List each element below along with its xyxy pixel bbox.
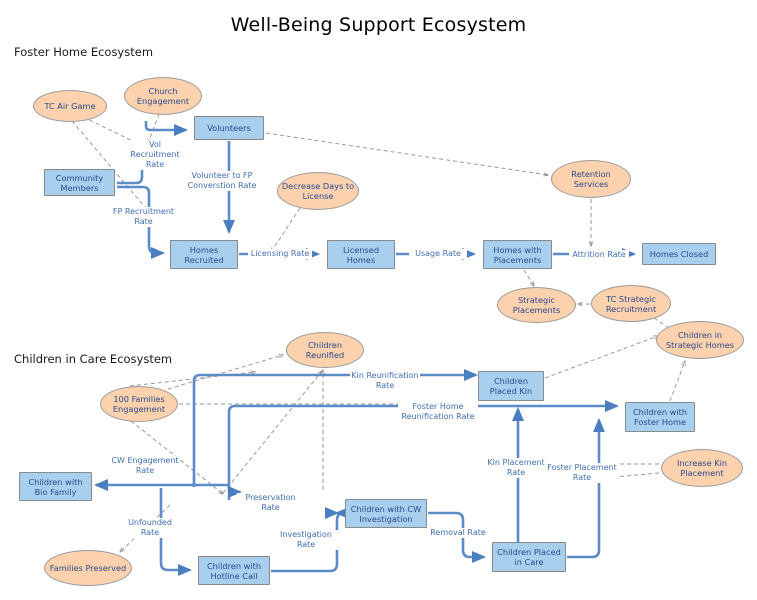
node-label: Children Reunified	[289, 340, 361, 360]
node-label: Retention Services	[554, 169, 628, 189]
flow-label-cw-engagement-rate: CW Engagement Rate	[110, 456, 180, 476]
node-label: Homes Recruited	[173, 245, 235, 265]
link-volunteers-to-retention	[266, 133, 548, 175]
flow-label-investigation-rate: Investigation Rate	[272, 530, 340, 550]
stock-node-children-with-foster-home[interactable]: Children with Foster Home	[625, 402, 695, 432]
link-hotline-to-reunified	[223, 371, 322, 493]
node-label: TC Strategic Recruitment	[594, 294, 668, 314]
flow-label-unfounded-rate: Unfounded Rate	[120, 518, 180, 538]
node-label: 100 Families Engagement	[103, 394, 175, 414]
flow-label-preservation-rate: Preservation Rate	[237, 493, 304, 513]
flow-label-usage-rate: Usage Rate	[409, 249, 467, 259]
node-label: Children Placed Kin	[481, 376, 541, 396]
node-label: Church Engagement	[127, 86, 199, 106]
flow-label-kin-reunification-rate: Kin Reunification Rate	[350, 371, 420, 391]
flow-label-volunteer-to-fp-conversion-rate: Volunteer to FP Converstion Rate	[185, 171, 259, 191]
flow-label-attrition-rate: Attrition Rate	[569, 250, 629, 260]
flow-label-removal-rate: Removal Rate	[427, 528, 489, 538]
flow-label-kin-placement-rate: Kin Placement Rate	[482, 458, 550, 478]
node-label: Decrease Days to License	[280, 181, 356, 201]
link-kin-to-children-strat	[545, 336, 658, 378]
aux-node-families-preserved[interactable]: Families Preserved	[44, 550, 132, 586]
stock-node-licensed-homes[interactable]: Licensed Homes	[327, 240, 395, 269]
stock-node-children-placed-kin[interactable]: Children Placed Kin	[478, 371, 544, 401]
stock-node-children-placed-in-care[interactable]: Children Placed in Care	[492, 542, 566, 572]
stock-node-children-with-hotline-call[interactable]: Children with Hotline Call	[198, 556, 270, 585]
aux-node-church-engagement[interactable]: Church Engagement	[124, 77, 202, 115]
aux-node-children-in-strategic-homes[interactable]: Children in Strategic Homes	[656, 321, 744, 359]
node-label: Children in Strategic Homes	[659, 330, 741, 350]
node-label: Strategic Placements	[500, 295, 573, 315]
aux-node-increase-kin-placement[interactable]: Increase Kin Placement	[661, 449, 743, 487]
link-decrease-days-to-licensing	[271, 208, 300, 252]
stock-node-children-with-cw-investigation[interactable]: Children with CW Investigation	[345, 499, 427, 528]
flow-kin-reunification	[194, 375, 476, 487]
stock-node-homes-recruited[interactable]: Homes Recruited	[170, 240, 238, 269]
node-label: Licensed Homes	[330, 245, 392, 265]
node-label: Volunteers	[207, 123, 251, 133]
flow-label-foster-placement-rate: Foster Placement Rate	[545, 463, 619, 483]
flow-church-to-volunteers	[146, 121, 186, 130]
aux-node-strategic-placements[interactable]: Strategic Placements	[497, 287, 576, 323]
aux-node-tc-strategic-recruitment[interactable]: TC Strategic Recruitment	[591, 285, 671, 322]
section-label-foster-home-ecosystem: Foster Home Ecosystem	[14, 45, 153, 59]
aux-node-children-reunified[interactable]: Children Reunified	[286, 332, 364, 368]
node-label: Families Preserved	[50, 563, 126, 573]
stock-node-volunteers[interactable]: Volunteers	[194, 116, 264, 140]
node-label: Community Members	[47, 173, 112, 193]
node-label: Increase Kin Placement	[664, 458, 740, 478]
node-label: Children Placed in Care	[495, 547, 563, 567]
flow-label-fp-recruitment-rate: FP Recruitment Rate	[105, 207, 182, 227]
stock-node-homes-with-placements[interactable]: Homes with Placements	[483, 240, 552, 269]
stock-node-community-members[interactable]: Community Members	[44, 169, 115, 196]
flow-label-vol-recruitment-rate: Vol Recruitment Rate	[125, 140, 185, 170]
flow-label-foster-home-reunification-rate: Foster Home Reunification Rate	[398, 402, 478, 422]
aux-node-decrease-days-to-license[interactable]: Decrease Days to License	[277, 172, 359, 210]
link-100fam-to-reunified	[168, 355, 283, 389]
node-label: Children with CW Investigation	[348, 504, 424, 524]
stock-node-children-with-bio-family[interactable]: Children with Bio Family	[19, 472, 92, 501]
link-foster-home-to-children-strat	[670, 361, 685, 401]
node-label: Children with Foster Home	[628, 407, 692, 427]
aux-node-retention-services[interactable]: Retention Services	[551, 160, 631, 198]
stock-node-homes-closed[interactable]: Homes Closed	[642, 243, 716, 265]
node-label: Children with Bio Family	[22, 477, 89, 497]
flow-care-to-foster	[567, 420, 599, 557]
flow-label-licensing-rate: Licensing Rate	[248, 249, 312, 259]
link-placements-to-strategic	[524, 270, 534, 286]
node-label: Homes with Placements	[486, 245, 549, 265]
aux-node-tc-air-game[interactable]: TC Air Game	[33, 90, 107, 122]
node-label: Homes Closed	[650, 249, 709, 259]
flow-cw-engagement	[96, 485, 229, 487]
diagram-canvas: Well-Being Support Ecosystem TC Air Game…	[0, 0, 757, 600]
node-label: Children with Hotline Call	[201, 561, 267, 581]
node-label: TC Air Game	[44, 101, 95, 111]
link-church-to-vol-rate	[148, 114, 159, 143]
aux-node-families-100-engagement[interactable]: 100 Families Engagement	[100, 386, 178, 422]
section-label-children-in-care-ecosystem: Children in Care Ecosystem	[14, 352, 172, 366]
